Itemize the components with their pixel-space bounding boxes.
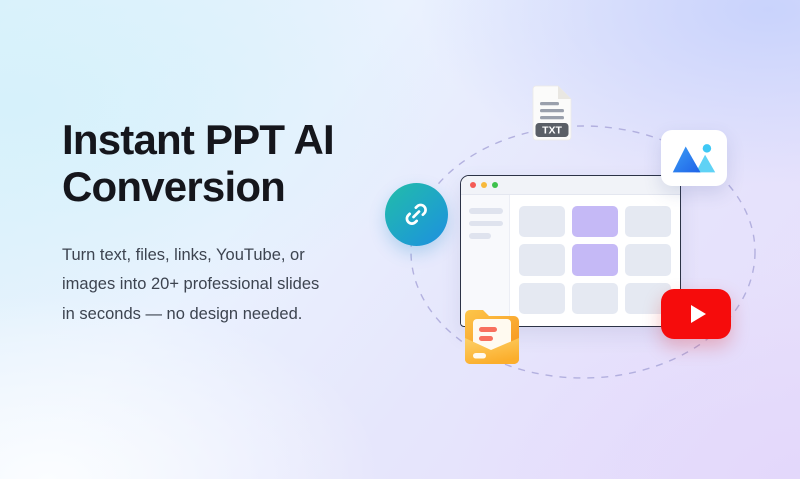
sidebar-placeholder <box>469 233 491 239</box>
hero-copy: Instant PPT AI Conversion Turn text, fil… <box>62 116 402 329</box>
slide-cell[interactable] <box>625 206 671 237</box>
slide-cell[interactable] <box>572 283 618 314</box>
txt-file-icon[interactable]: TXT <box>530 85 574 141</box>
play-icon <box>691 305 706 323</box>
folder-icon[interactable] <box>463 305 521 369</box>
hero-subcopy: Turn text, files, links, YouTube, or ima… <box>62 241 402 329</box>
slide-cell-selected[interactable] <box>572 244 618 275</box>
close-icon[interactable] <box>470 182 476 188</box>
slide-cell-selected[interactable] <box>572 206 618 237</box>
image-icon[interactable] <box>661 130 727 186</box>
illustration: TXT <box>385 62 785 402</box>
hero-banner: Instant PPT AI Conversion Turn text, fil… <box>0 0 800 479</box>
slide-grid <box>510 195 680 325</box>
youtube-icon[interactable] <box>661 289 731 339</box>
slide-cell[interactable] <box>519 206 565 237</box>
txt-badge-label: TXT <box>542 124 562 136</box>
maximize-icon[interactable] <box>492 182 498 188</box>
slide-cell[interactable] <box>519 283 565 314</box>
sidebar-placeholder <box>469 208 503 214</box>
sidebar-placeholder <box>469 221 503 227</box>
page-title: Instant PPT AI Conversion <box>62 116 402 210</box>
window-titlebar <box>461 176 680 195</box>
slide-cell[interactable] <box>625 244 671 275</box>
slide-cell[interactable] <box>519 244 565 275</box>
minimize-icon[interactable] <box>481 182 487 188</box>
link-icon[interactable] <box>385 183 448 246</box>
